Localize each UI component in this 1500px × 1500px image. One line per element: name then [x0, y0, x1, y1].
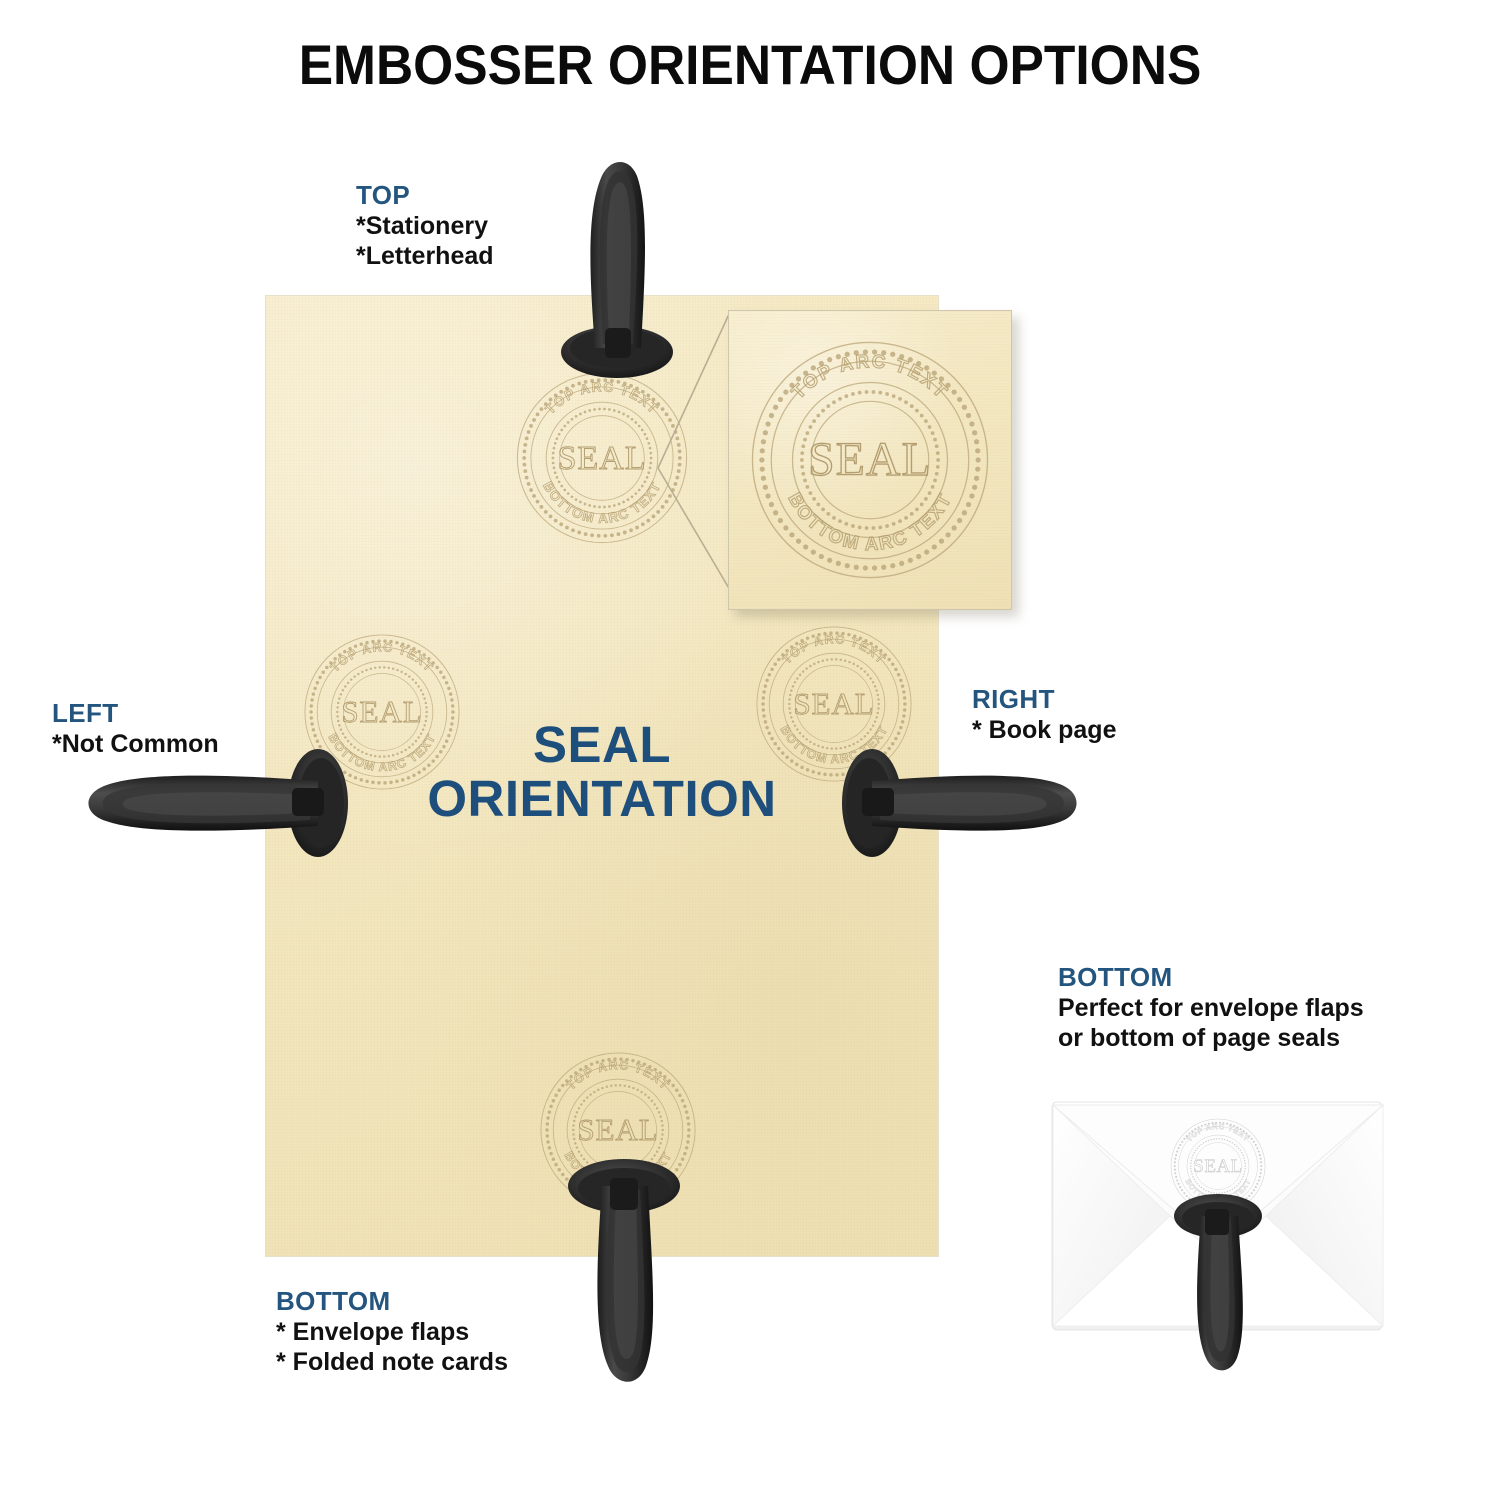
svg-text:BOTTOM ARC TEXT: BOTTOM ARC TEXT	[784, 489, 955, 554]
infographic-canvas: EMBOSSER ORIENTATION OPTIONS TOP ARC TEX…	[0, 0, 1500, 1500]
callout-bottom-page-line-2: * Folded note cards	[276, 1347, 508, 1378]
magnified-seal-panel: TOP ARC TEXTBOTTOM ARC TEXTSEAL	[728, 310, 1012, 610]
svg-text:SEAL: SEAL	[808, 434, 932, 486]
svg-text:TOP ARC TEXT: TOP ARC TEXT	[787, 350, 953, 403]
callout-right-kicker: RIGHT	[972, 684, 1116, 715]
center-label-line-1: SEAL	[533, 716, 671, 773]
envelope-photo: TOP ARC TEXTBOTTOM ARC TEXTSEAL	[1050, 1098, 1386, 1338]
callout-bottom-page-kicker: BOTTOM	[276, 1286, 508, 1317]
callout-right: RIGHT * Book page	[972, 684, 1116, 745]
callout-top-line-2: *Letterhead	[356, 241, 494, 272]
callout-bottom-envelope-kicker: BOTTOM	[1058, 962, 1364, 993]
callout-left-line-1: *Not Common	[52, 729, 219, 760]
seal-impression-magnified: TOP ARC TEXTBOTTOM ARC TEXTSEAL	[745, 335, 995, 585]
callout-top: TOP *Stationery *Letterhead	[356, 180, 494, 272]
envelope-icon	[1050, 1098, 1386, 1338]
callout-bottom-page: BOTTOM * Envelope flaps * Folded note ca…	[276, 1286, 508, 1378]
page-title: EMBOSSER ORIENTATION OPTIONS	[60, 32, 1440, 97]
center-label-line-2: ORIENTATION	[266, 772, 938, 826]
callout-left-kicker: LEFT	[52, 698, 219, 729]
center-seal-orientation-label: SEALORIENTATION	[266, 718, 938, 826]
callout-top-kicker: TOP	[356, 180, 494, 211]
callout-bottom-page-line-1: * Envelope flaps	[276, 1317, 508, 1348]
callout-top-line-1: *Stationery	[356, 211, 494, 242]
callout-bottom-envelope-line-1: Perfect for envelope flaps	[1058, 993, 1364, 1024]
callout-right-line-1: * Book page	[972, 715, 1116, 746]
callout-bottom-envelope: BOTTOM Perfect for envelope flaps or bot…	[1058, 962, 1364, 1054]
callout-left: LEFT *Not Common	[52, 698, 219, 759]
callout-bottom-envelope-line-2: or bottom of page seals	[1058, 1023, 1364, 1054]
